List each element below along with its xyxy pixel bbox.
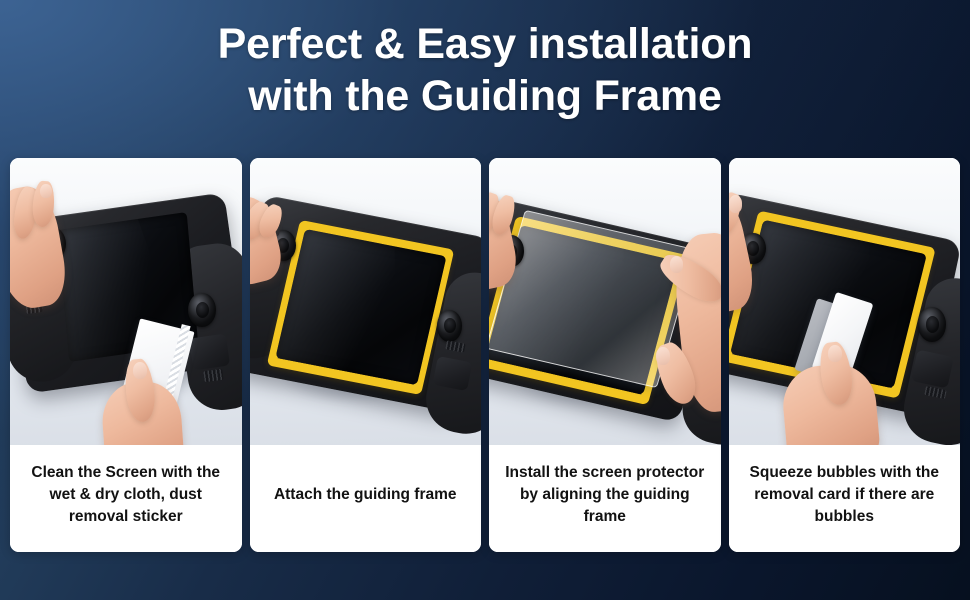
title-line-2: with the Guiding Frame bbox=[40, 70, 930, 122]
infographic-root: Perfect & Easy installation with the Gui… bbox=[0, 0, 970, 600]
step-4-photo bbox=[729, 158, 961, 445]
step-3-caption: Install the screen protector by aligning… bbox=[489, 445, 721, 552]
device-screen bbox=[275, 229, 446, 385]
step-card-3: Install the screen protector by aligning… bbox=[489, 158, 721, 552]
step-card-2: Attach the guiding frame bbox=[250, 158, 482, 552]
page-title: Perfect & Easy installation with the Gui… bbox=[0, 18, 970, 122]
step-1-caption: Clean the Screen with the wet & dry clot… bbox=[10, 445, 242, 552]
step-card-4: Squeeze bubbles with the removal card if… bbox=[729, 158, 961, 552]
step-card-row: Clean the Screen with the wet & dry clot… bbox=[10, 158, 960, 552]
step-3-caption-text: Install the screen protector by aligning… bbox=[501, 462, 709, 528]
step-1-caption-text: Clean the Screen with the wet & dry clot… bbox=[22, 462, 230, 528]
step-4-caption: Squeeze bubbles with the removal card if… bbox=[729, 445, 961, 552]
step-card-1: Clean the Screen with the wet & dry clot… bbox=[10, 158, 242, 552]
step-4-caption-text: Squeeze bubbles with the removal card if… bbox=[741, 462, 949, 528]
step-1-photo bbox=[10, 158, 242, 445]
title-line-1: Perfect & Easy installation bbox=[40, 18, 930, 70]
step-2-caption: Attach the guiding frame bbox=[250, 445, 482, 552]
step-3-photo bbox=[489, 158, 721, 445]
step-2-photo bbox=[250, 158, 482, 445]
step-2-caption-text: Attach the guiding frame bbox=[274, 484, 457, 506]
